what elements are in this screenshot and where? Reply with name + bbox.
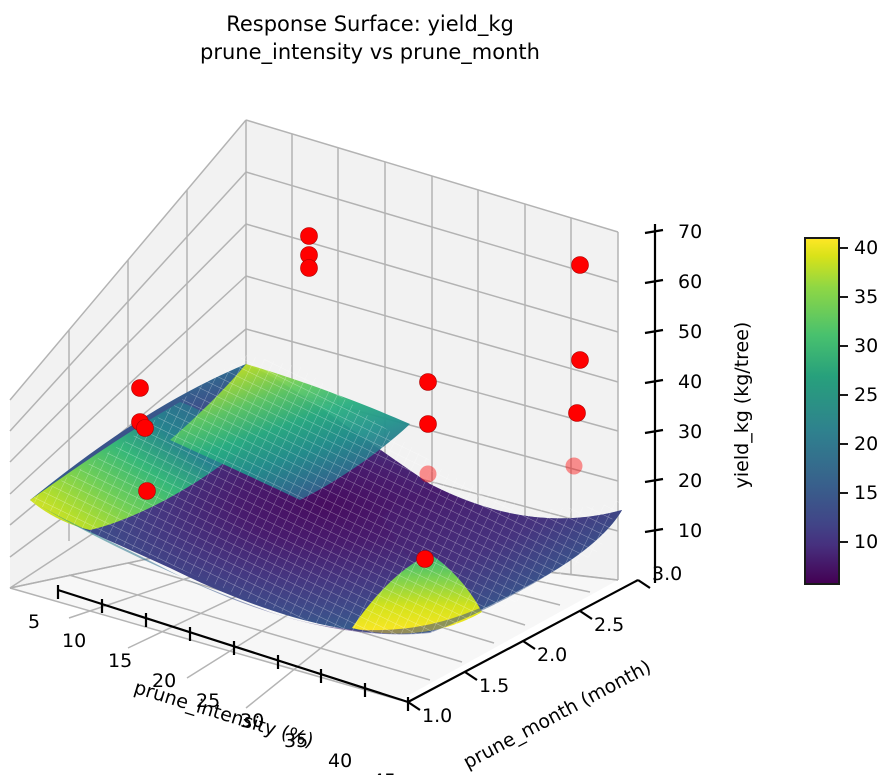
colorbar-tick-mark [840, 492, 848, 494]
colorbar-tick-label: 40 [854, 237, 878, 259]
colorbar-tick-mark [840, 345, 848, 347]
x-tick-label: 10 [62, 630, 86, 652]
colorbar-gradient[interactable] [804, 237, 840, 585]
colorbar-tick-label: 30 [854, 335, 878, 357]
scatter-point[interactable] [139, 483, 156, 500]
scatter-point[interactable] [417, 551, 434, 568]
colorbar[interactable]: 40 35 30 25 20 15 10 [804, 237, 896, 587]
x-axis-title: prune_intensity (%) [131, 676, 316, 752]
y-tick-label: 2.5 [594, 614, 624, 636]
y-tick-label: 2.0 [537, 644, 567, 666]
z-tick-label: 60 [678, 271, 702, 293]
colorbar-tick-mark [840, 247, 848, 249]
scatter-point[interactable] [569, 405, 586, 422]
scatter-point[interactable] [137, 420, 154, 437]
x-tick-label: 5 [28, 611, 40, 633]
z-tick-label: 20 [678, 470, 702, 492]
z-tick-label: 50 [678, 321, 702, 343]
colorbar-tick-label: 20 [854, 433, 878, 455]
scatter-point-occluded[interactable] [420, 466, 437, 483]
colorbar-tick-mark [840, 296, 848, 298]
z-tick-label: 10 [678, 520, 702, 542]
y-tick-label: 1.0 [422, 705, 452, 727]
scatter-point[interactable] [301, 228, 318, 245]
colorbar-tick-mark [840, 443, 848, 445]
scatter-point[interactable] [572, 352, 589, 369]
scatter-point[interactable] [132, 380, 149, 397]
surface-plot-svg[interactable]: 70 60 50 40 30 20 10 yield_kg (kg/tree) … [0, 80, 740, 775]
colorbar-tick-label: 15 [854, 482, 878, 504]
scatter-point[interactable] [572, 257, 589, 274]
colorbar-tick-label: 10 [854, 531, 878, 553]
y-axis-title: prune_month (month) [460, 656, 655, 774]
scatter-point-occluded[interactable] [566, 458, 583, 475]
figure-canvas: Response Surface: yield_kg prune_intensi… [0, 0, 896, 775]
z-tick-label: 40 [678, 371, 702, 393]
axes-3d: 70 60 50 40 30 20 10 yield_kg (kg/tree) … [0, 80, 740, 775]
x-tick-label: 40 [328, 750, 352, 772]
scatter-point[interactable] [420, 416, 437, 433]
x-tick-label: 15 [108, 650, 132, 672]
z-tick-label: 30 [678, 421, 702, 443]
z-tick-labels: 70 60 50 40 30 20 10 [678, 221, 702, 542]
colorbar-tick-label: 35 [854, 286, 878, 308]
x-tick-label: 45 [372, 770, 396, 775]
colorbar-tick-mark [840, 541, 848, 543]
figure-title: Response Surface: yield_kg prune_intensi… [0, 10, 740, 67]
colorbar-tick-mark [840, 394, 848, 396]
scatter-point[interactable] [420, 374, 437, 391]
y-tick-label: 3.0 [652, 563, 682, 585]
scatter-point[interactable] [301, 260, 318, 277]
z-axis-title: yield_kg (kg/tree) [731, 322, 753, 489]
y-tick-label: 1.5 [479, 675, 509, 697]
z-tick-label: 70 [678, 221, 702, 243]
z-axis-spine [645, 224, 663, 583]
colorbar-tick-label: 25 [854, 384, 878, 406]
